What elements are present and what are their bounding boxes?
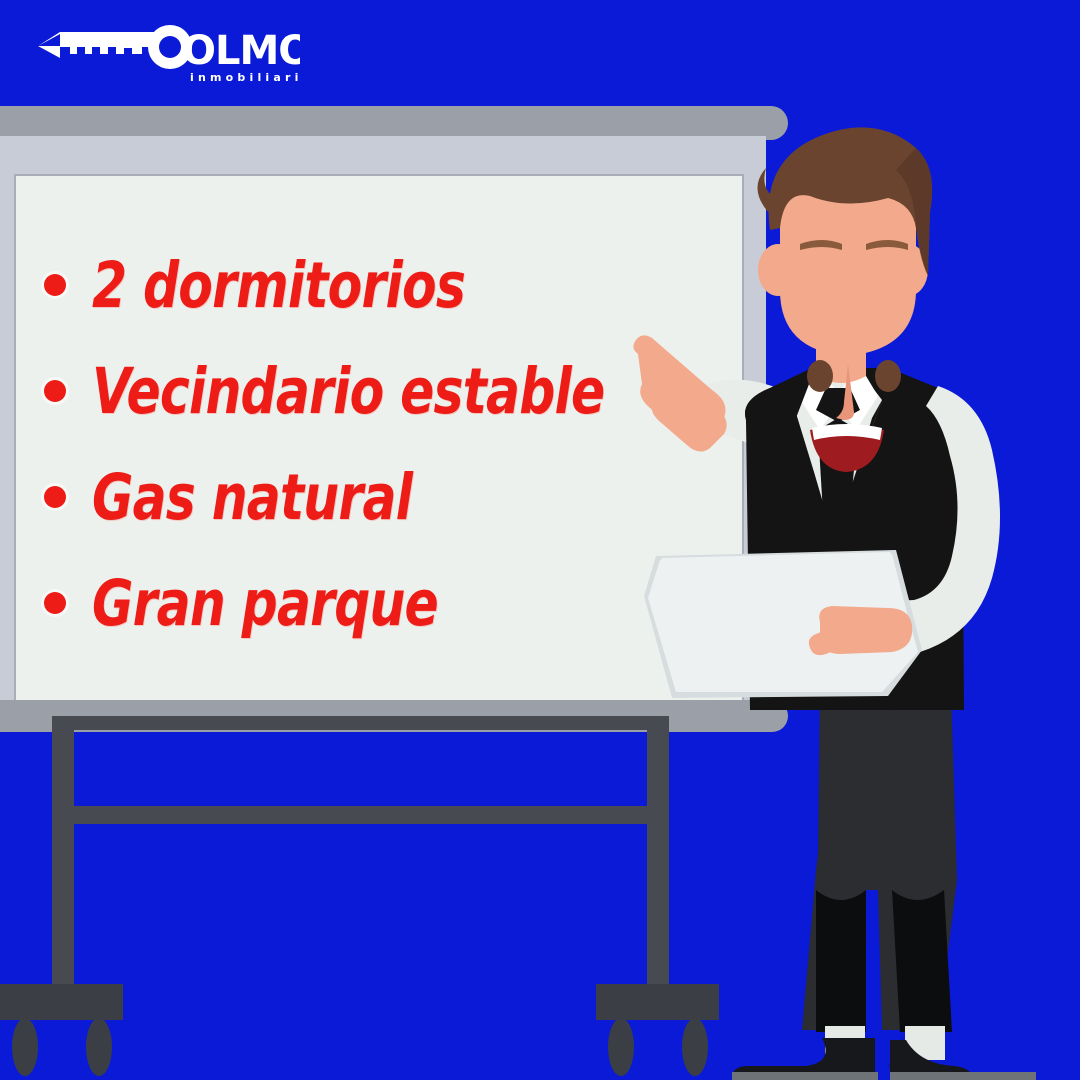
list-item-label: Gas natural [92,466,412,529]
bullet-dot-icon [44,380,66,402]
stand-leg-left [52,716,74,986]
list-item-label: 2 dormitorios [92,254,465,317]
presenter-illustration [620,100,1080,1080]
face [780,188,916,356]
stand-crossbar-top [63,716,658,730]
list-item: Gran parque [44,550,704,656]
list-item-label: Vecindario estable [92,360,604,423]
key-skyline-icon [38,32,165,58]
stand-crossbar-middle [63,806,658,824]
list-item: 2 dormitorios [44,232,704,338]
logo-wordmark: OLMOS [182,28,300,74]
stand-wheel-base-left [0,984,123,1020]
stand-wheel [12,1018,38,1076]
logo-tagline: inmobiliaria [190,71,300,84]
stand-wheel [86,1018,112,1076]
holding-hand [809,606,912,655]
pointing-hand [633,335,726,451]
brand-logo: OLMOS inmobiliaria [30,24,300,94]
bullet-dot-icon [44,274,66,296]
list-item: Gas natural [44,444,704,550]
shoe-sole [732,1072,878,1080]
logo-o-hole [159,36,181,58]
bullet-dot-icon [44,592,66,614]
shoes [732,1038,1036,1080]
feature-list: 2 dormitorios Vecindario estable Gas nat… [44,232,704,656]
list-item-label: Gran parque [92,572,438,635]
list-item: Vecindario estable [44,338,704,444]
poster-canvas: OLMOS inmobiliaria 2 dormitorios Vecinda… [0,0,1080,1080]
shoe-sole [890,1072,1036,1080]
bullet-dot-icon [44,486,66,508]
